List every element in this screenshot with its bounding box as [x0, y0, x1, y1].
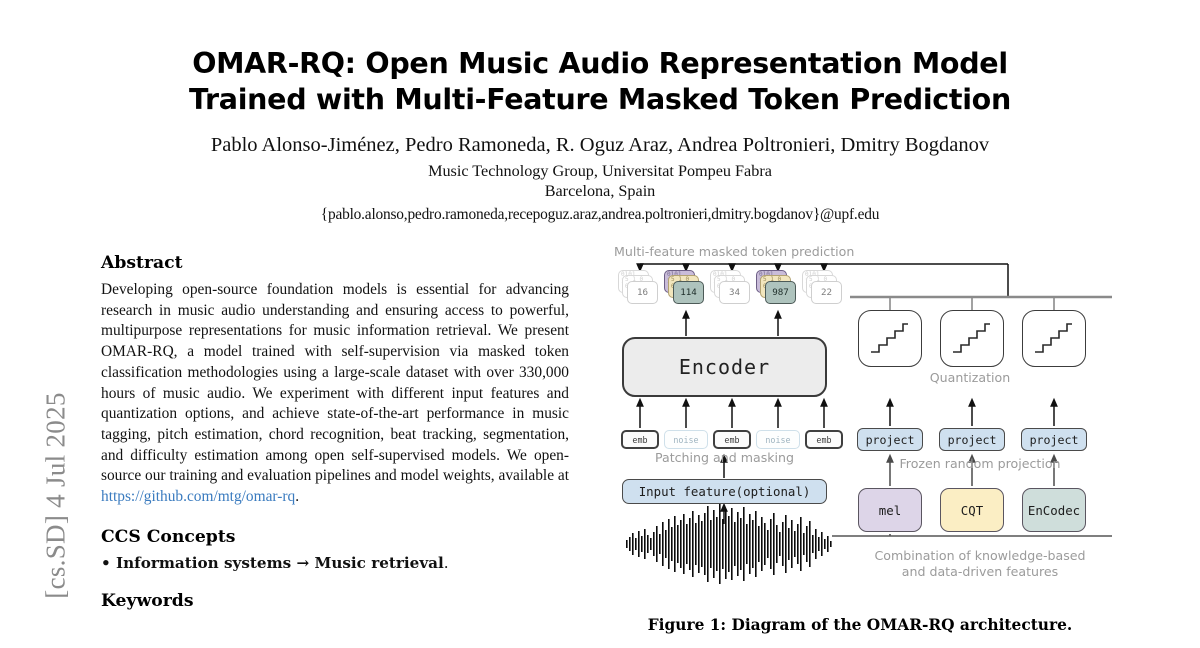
staircase-icon: [1032, 320, 1076, 358]
keywords-heading: Keywords: [101, 591, 569, 611]
author-list: Pablo Alonso-Jiménez, Pedro Ramoneda, R.…: [100, 133, 1100, 157]
feature-block-encodec: EnCodec: [1022, 488, 1086, 532]
encoder-block: Encoder: [622, 337, 827, 397]
figure-caption: Figure 1: Diagram of the OMAR-RQ archite…: [600, 616, 1120, 634]
token-stack: 01011001 5 1 00 1 16: [618, 270, 662, 310]
affiliation-line-1: Music Technology Group, Universitat Pomp…: [100, 161, 1100, 181]
label-frozen-random-projection: Frozen random projection: [870, 456, 1090, 471]
author-emails: {pablo.alonso,pedro.ramoneda,recepoguz.a…: [100, 206, 1100, 224]
ccs-bullet: •: [101, 554, 111, 572]
ccs-item-label: Information systems → Music retrieval: [116, 554, 444, 572]
token-card-front: 22: [811, 281, 842, 304]
architecture-diagram: 01011001 5 1 00 1 16 01011001 5 1 00 1 1…: [600, 252, 1120, 612]
label-combination-line-1: Combination of knowledge-based: [848, 548, 1112, 563]
label-patching-and-masking: Patching and masking: [622, 450, 827, 465]
feature-block-cqt: CQT: [940, 488, 1004, 532]
token-card-front: 987: [765, 281, 796, 304]
arxiv-stamp: [cs.SD] 4 Jul 2025: [41, 356, 72, 636]
token-stack-masked: 01011001 5 1 00 1 987: [756, 270, 800, 310]
title-line-1: OMAR-RQ: Open Music Audio Representation…: [100, 46, 1100, 82]
abstract-body: Developing open-source foundation models…: [101, 280, 569, 508]
patch-cell-noise: noise: [756, 430, 800, 449]
projection-block: project: [939, 428, 1005, 451]
staircase-icon: [868, 320, 912, 358]
github-link[interactable]: https://github.com/mtg/omar-rq: [101, 488, 295, 505]
ccs-item: • Information systems → Music retrieval.: [101, 554, 569, 572]
ccs-period: .: [444, 554, 449, 572]
patch-cell-emb: emb: [805, 430, 843, 449]
staircase-icon: [950, 320, 994, 358]
keywords-section: Keywords: [101, 591, 569, 611]
patch-cell-noise: noise: [664, 430, 708, 449]
projection-block: project: [857, 428, 923, 451]
token-stack: 01011001 5 1 00 1 34: [710, 270, 754, 310]
feature-block-mel: mel: [858, 488, 922, 532]
abstract-text-tail: .: [295, 488, 299, 505]
quantization-block: [1022, 310, 1086, 367]
abstract-heading: Abstract: [101, 253, 569, 273]
label-masked-token-prediction: Multi-feature masked token prediction: [614, 244, 914, 259]
token-card-front: 16: [627, 281, 658, 304]
label-quantization: Quantization: [890, 370, 1050, 385]
label-combination-line-2: and data-driven features: [848, 564, 1112, 579]
ccs-heading: CCS Concepts: [101, 527, 569, 547]
quantization-block: [858, 310, 922, 367]
token-card-front: 34: [719, 281, 750, 304]
figure-1: 01011001 5 1 00 1 16 01011001 5 1 00 1 1…: [600, 252, 1120, 648]
waveform-icon: [626, 504, 832, 584]
token-stack-masked: 01011001 5 1 00 1 114: [664, 270, 708, 310]
input-feature-block: Input feature(optional): [622, 479, 827, 504]
page-title: OMAR-RQ: Open Music Audio Representation…: [100, 46, 1100, 118]
patch-cell-emb: emb: [713, 430, 751, 449]
token-card-front: 114: [673, 281, 704, 304]
left-column: Abstract Developing open-source foundati…: [101, 253, 569, 618]
token-stack: 01011001 5 1 00 1 22: [802, 270, 846, 310]
projection-block: project: [1021, 428, 1087, 451]
paper-header: OMAR-RQ: Open Music Audio Representation…: [100, 46, 1100, 224]
title-line-2: Trained with Multi-Feature Masked Token …: [100, 82, 1100, 118]
quantization-block: [940, 310, 1004, 367]
ccs-concepts-section: CCS Concepts • Information systems → Mus…: [101, 527, 569, 572]
patch-cell-emb: emb: [621, 430, 659, 449]
abstract-text: Developing open-source foundation models…: [101, 281, 569, 484]
affiliation-line-2: Barcelona, Spain: [100, 181, 1100, 201]
